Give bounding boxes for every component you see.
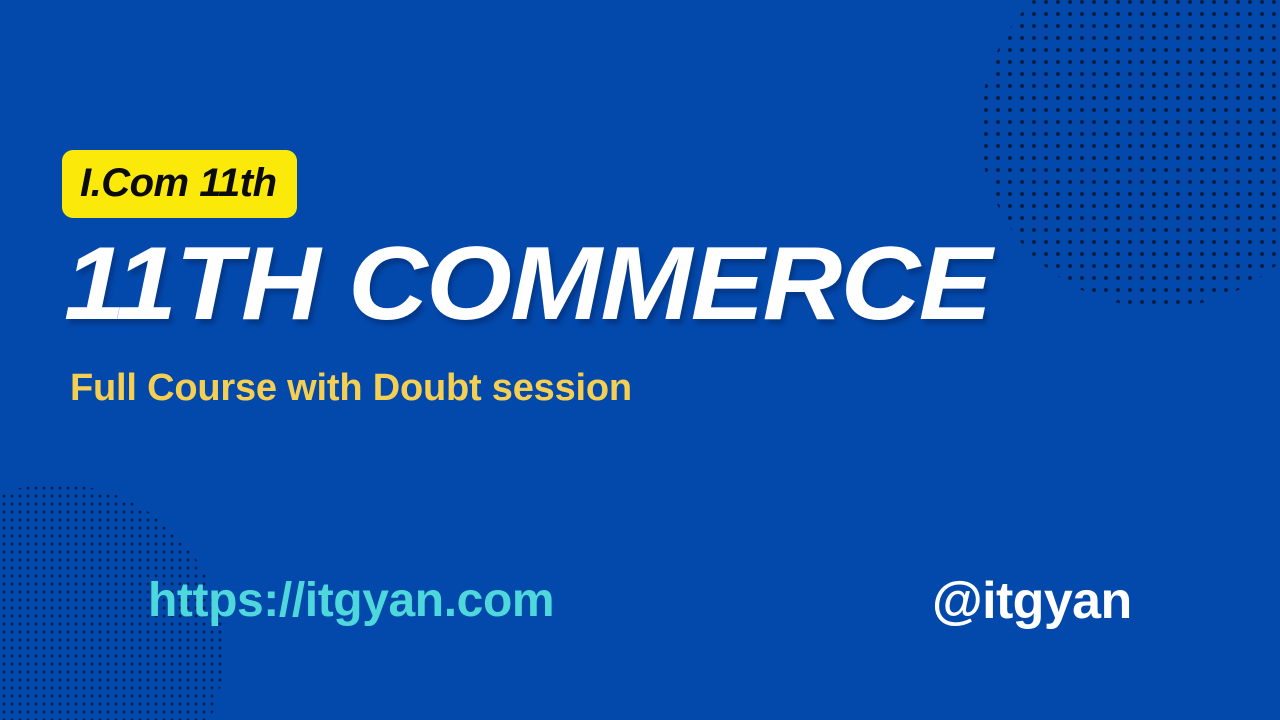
social-handle[interactable]: @itgyan bbox=[932, 570, 1132, 632]
course-promo-banner: I.Com 11th 11TH COMMERCE Full Course wit… bbox=[0, 0, 1280, 720]
course-category-badge: I.Com 11th bbox=[62, 150, 297, 218]
banner-headline: 11TH COMMERCE bbox=[64, 228, 991, 340]
website-url-link[interactable]: https://itgyan.com bbox=[148, 572, 554, 630]
banner-subtitle: Full Course with Doubt session bbox=[70, 366, 632, 412]
banner-content: I.Com 11th 11TH COMMERCE Full Course wit… bbox=[62, 0, 1222, 720]
course-category-badge-label: I.Com 11th bbox=[80, 163, 277, 203]
